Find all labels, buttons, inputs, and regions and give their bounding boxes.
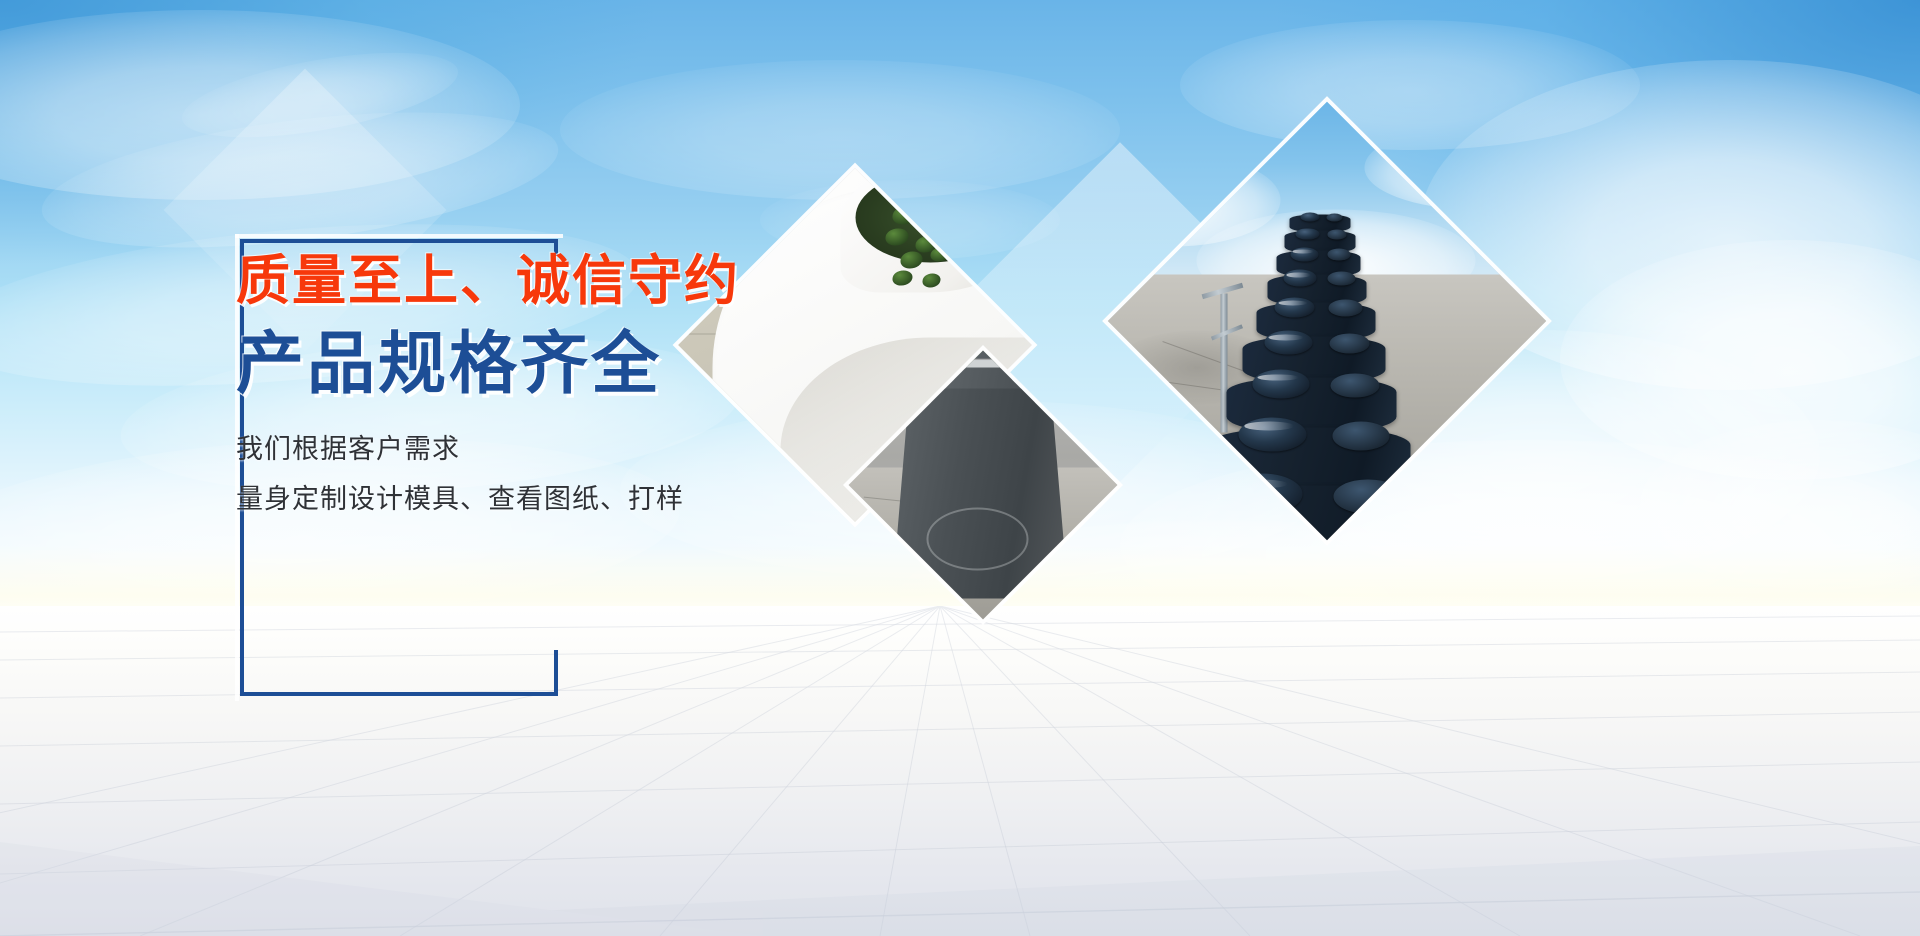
subtitle-line-1: 我们根据客户需求 — [236, 424, 684, 474]
subtitle-block: 我们根据客户需求 量身定制设计模具、查看图纸、打样 — [236, 424, 684, 524]
headline-secondary: 产品规格齐全 — [236, 330, 662, 398]
frame-top-line — [240, 239, 558, 243]
frame-highlight — [235, 234, 563, 238]
frame-bottom-line — [240, 692, 558, 696]
headline-primary: 质量至上、诚信守约 — [236, 254, 740, 308]
subtitle-line-2: 量身定制设计模具、查看图纸、打样 — [236, 474, 684, 524]
promo-banner: 质量至上、诚信守约 产品规格齐全 我们根据客户需求 量身定制设计模具、查看图纸、… — [0, 0, 1920, 936]
frame-bottom-right-stub — [554, 650, 558, 696]
